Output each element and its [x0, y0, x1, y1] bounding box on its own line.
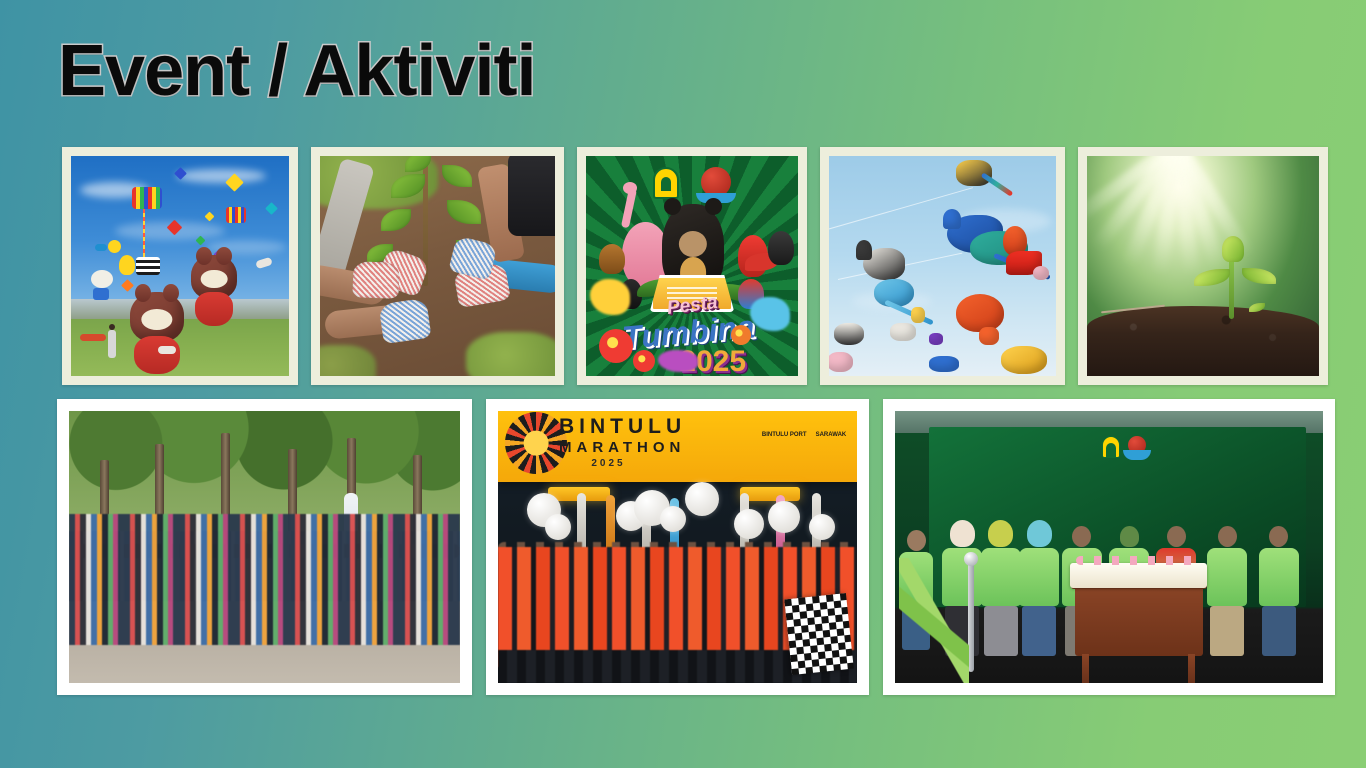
- photo-seedling-sunlight: [1087, 156, 1319, 376]
- photo-bintulu-marathon-start: BINTULU MARATHON 2025 BINTULU PORT SARAW…: [498, 411, 857, 683]
- marathon-subtitle: MARATHON: [559, 439, 685, 456]
- marathon-sunburst-logo-icon: [505, 412, 567, 474]
- photo-frame-seedling[interactable]: [1078, 147, 1328, 385]
- photo-cake-cutting-ceremony: [895, 411, 1323, 683]
- photo-frame-cake-ceremony[interactable]: [883, 399, 1335, 695]
- photo-frame-kite-festival[interactable]: [62, 147, 298, 385]
- backdrop-council-globe-icon: [1128, 436, 1146, 454]
- marathon-title: BINTULU: [559, 416, 686, 438]
- photo-kite-festival-field: [71, 156, 289, 376]
- sponsor-logo-bintulu-port: BINTULU PORT: [762, 432, 807, 438]
- marathon-start-arch: BINTULU MARATHON 2025 BINTULU PORT SARAW…: [498, 411, 857, 482]
- sponsor-logo-sarawak: SARAWAK: [816, 432, 847, 438]
- photo-frame-community-group[interactable]: [57, 399, 472, 695]
- photo-community-group-park: [69, 411, 460, 683]
- poster-logos: [586, 167, 798, 199]
- photo-frame-animal-kites[interactable]: [820, 147, 1065, 385]
- gallery-row-bottom: BINTULU MARATHON 2025 BINTULU PORT SARAW…: [57, 399, 1335, 695]
- gallery-row-top: Pesta Tumbina 2025: [62, 147, 1328, 385]
- photo-animal-kites-sky: [829, 156, 1056, 376]
- checkered-flag-icon: [784, 593, 854, 675]
- page-title: Event / Aktiviti: [58, 34, 535, 110]
- photo-tree-planting-hands: [320, 156, 555, 376]
- marathon-year: 2025: [591, 458, 625, 469]
- marathon-sponsor-logos: BINTULU PORT SARAWAK: [762, 432, 846, 438]
- ceremony-table: [1075, 585, 1203, 656]
- council-globe-icon: [701, 167, 731, 197]
- sarawak-crest-icon: [653, 167, 679, 199]
- photo-frame-tree-planting[interactable]: [311, 147, 564, 385]
- photo-pesta-tumbina-poster: Pesta Tumbina 2025: [586, 156, 798, 376]
- photo-frame-pesta-tumbina[interactable]: Pesta Tumbina 2025: [577, 147, 807, 385]
- ceremony-cake: [1070, 563, 1207, 587]
- photo-frame-bintulu-marathon[interactable]: BINTULU MARATHON 2025 BINTULU PORT SARAW…: [486, 399, 869, 695]
- backdrop-sarawak-crest-icon: [1102, 436, 1120, 458]
